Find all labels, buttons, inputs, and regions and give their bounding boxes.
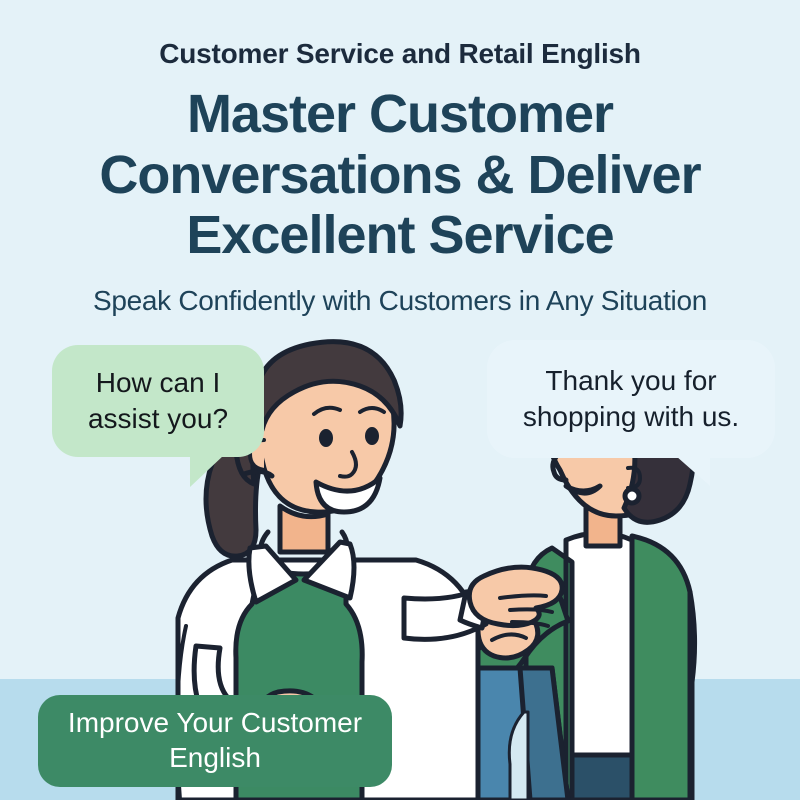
poster-canvas: Customer Service and Retail English Mast… <box>0 0 800 800</box>
speech-bubble-customer-text: Thank you for shopping with us. <box>523 363 739 435</box>
speech-bubble-staff-tail <box>190 455 238 487</box>
eyebrow-text: Customer Service and Retail English <box>0 0 800 70</box>
page-title: Master Customer Conversations & Deliver … <box>0 70 800 265</box>
text-block: Customer Service and Retail English Mast… <box>0 0 800 317</box>
headline-line-1: Master Customer <box>0 84 800 144</box>
speech-bubble-staff: How can I assist you? <box>52 345 264 457</box>
speech-bubble-customer-tail <box>662 456 710 486</box>
headline-line-2: Conversations & Deliver <box>0 145 800 205</box>
cta-button-label: Improve Your Customer English <box>54 706 376 775</box>
subheadline-text: Speak Confidently with Customers in Any … <box>0 266 800 318</box>
speech-bubble-customer: Thank you for shopping with us. <box>487 340 775 458</box>
cta-button[interactable]: Improve Your Customer English <box>38 695 392 787</box>
speech-bubble-staff-text: How can I assist you? <box>88 365 228 437</box>
headline-line-3: Excellent Service <box>0 205 800 265</box>
